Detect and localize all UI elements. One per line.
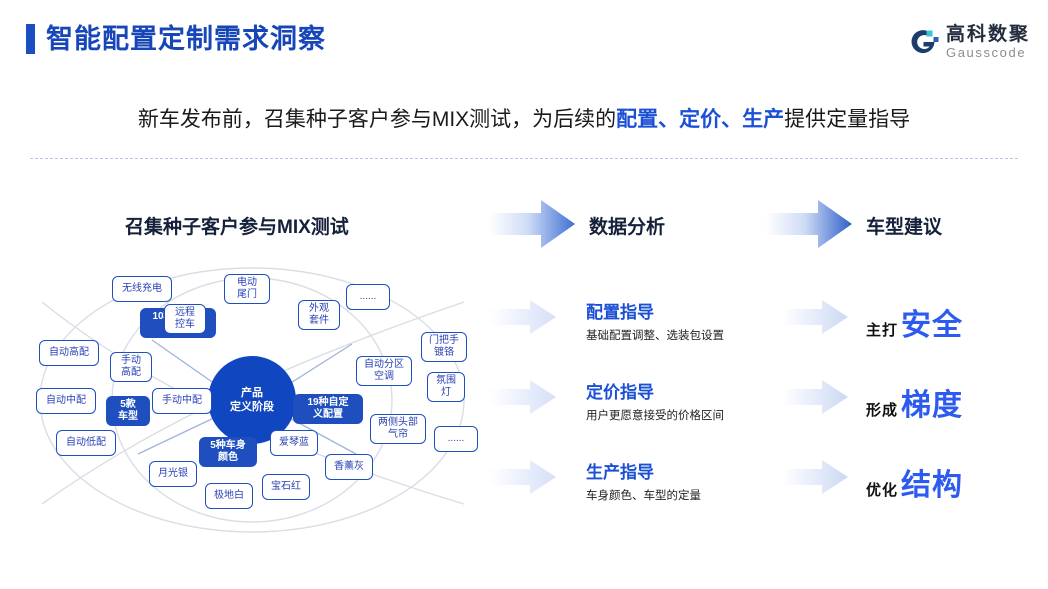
mindmap-leaf-node[interactable]: 手动中配 bbox=[152, 388, 212, 414]
guidance-desc: 基础配置调整、选装包设置 bbox=[586, 327, 724, 345]
outcome-item[interactable]: 优化 结构 bbox=[866, 460, 963, 504]
column-header-data-analysis: 数据分析 bbox=[589, 212, 665, 239]
mindmap-leaf-node[interactable]: 月光银 bbox=[149, 461, 197, 487]
column-header-model-advice: 车型建议 bbox=[866, 212, 942, 239]
section-divider bbox=[30, 158, 1018, 159]
mindmap-leaf-node[interactable]: 自动低配 bbox=[56, 430, 116, 456]
arrow-right-icon bbox=[766, 199, 852, 249]
logo-text-cn: 高科数聚 bbox=[946, 24, 1030, 45]
page-title: 智能配置定制需求洞察 bbox=[46, 21, 326, 57]
mindmap-leaf-node[interactable]: 手动 高配 bbox=[110, 352, 152, 382]
mindmap-leaf-node[interactable]: 门把手 镀铬 bbox=[421, 332, 467, 362]
gausscode-logo-icon bbox=[906, 25, 940, 59]
slide-root: 智能配置定制需求洞察 高科数聚 Gausscode 新车发布前，召集种子客户参与… bbox=[0, 0, 1048, 589]
mindmap-diagram: 产品 定义阶段 10种个性化 配置 19种自定 义配置 5款 车型 5种车身 颜… bbox=[12, 258, 492, 538]
outcome-item[interactable]: 形成 梯度 bbox=[866, 380, 963, 424]
mindmap-leaf-node[interactable]: ...... bbox=[434, 426, 478, 452]
subtitle-line: 新车发布前，召集种子客户参与MIX测试，为后续的配置、定价、生产提供定量指导 bbox=[0, 105, 1048, 135]
mindmap-leaf-node[interactable]: 自动分区 空调 bbox=[356, 356, 412, 386]
arrow-right-icon bbox=[782, 300, 848, 334]
arrow-right-icon bbox=[782, 380, 848, 414]
slide-header: 智能配置定制需求洞察 高科数聚 Gausscode bbox=[0, 0, 1048, 78]
mindmap-leaf-node[interactable]: 电动 尾门 bbox=[224, 274, 270, 304]
mindmap-leaf-node[interactable]: 极地白 bbox=[205, 483, 253, 509]
arrow-right-icon bbox=[782, 460, 848, 494]
outcome-prefix: 优化 bbox=[866, 479, 898, 500]
mindmap-branch-node[interactable]: 5种车身 颜色 bbox=[199, 437, 257, 467]
title-accent-bar bbox=[26, 24, 35, 54]
mindmap-leaf-node[interactable]: 自动高配 bbox=[39, 340, 99, 366]
logo-text: 高科数聚 Gausscode bbox=[946, 24, 1030, 60]
logo-text-en: Gausscode bbox=[946, 45, 1030, 60]
mindmap-leaf-node[interactable]: 远程 控车 bbox=[164, 304, 206, 334]
outcome-keyword: 结构 bbox=[901, 460, 963, 504]
arrow-right-icon bbox=[490, 380, 556, 414]
mindmap-branch-node[interactable]: 5款 车型 bbox=[106, 396, 150, 426]
outcome-keyword: 安全 bbox=[901, 300, 963, 344]
subtitle-part2: 提供定量指导 bbox=[784, 108, 910, 131]
subtitle-highlight: 配置、定价、生产 bbox=[616, 108, 784, 131]
mindmap-leaf-node[interactable]: 无线充电 bbox=[112, 276, 172, 302]
outcome-item[interactable]: 主打 安全 bbox=[866, 300, 963, 344]
arrow-right-icon bbox=[489, 199, 575, 249]
guidance-desc: 用户更愿意接受的价格区间 bbox=[586, 407, 724, 425]
mindmap-leaf-node[interactable]: 爱琴蓝 bbox=[270, 430, 318, 456]
guidance-item[interactable]: 配置指导 基础配置调整、选装包设置 bbox=[586, 302, 724, 345]
arrow-right-icon bbox=[490, 300, 556, 334]
mindmap-leaf-node[interactable]: 宝石红 bbox=[262, 474, 310, 500]
arrow-right-icon bbox=[490, 460, 556, 494]
guidance-item[interactable]: 定价指导 用户更愿意接受的价格区间 bbox=[586, 382, 724, 425]
outcome-keyword: 梯度 bbox=[901, 380, 963, 424]
subtitle-part1: 新车发布前，召集种子客户参与MIX测试，为后续的 bbox=[138, 108, 616, 131]
mindmap-branch-node[interactable]: 19种自定 义配置 bbox=[293, 394, 363, 424]
mindmap-leaf-node[interactable]: ...... bbox=[346, 284, 390, 310]
brand-logo: 高科数聚 Gausscode bbox=[906, 20, 1030, 64]
guidance-desc: 车身颜色、车型的定量 bbox=[586, 487, 701, 505]
mindmap-leaf-node[interactable]: 自动中配 bbox=[36, 388, 96, 414]
outcome-prefix: 形成 bbox=[866, 399, 898, 420]
guidance-title: 生产指导 bbox=[586, 462, 701, 484]
column-header-mix-test: 召集种子客户参与MIX测试 bbox=[125, 212, 349, 239]
mindmap-leaf-node[interactable]: 氛围 灯 bbox=[427, 372, 465, 402]
mindmap-leaf-node[interactable]: 香薰灰 bbox=[325, 454, 373, 480]
mindmap-leaf-node[interactable]: 外观 套件 bbox=[298, 300, 340, 330]
outcome-prefix: 主打 bbox=[866, 319, 898, 340]
mindmap-leaf-node[interactable]: 两侧头部 气帘 bbox=[370, 414, 426, 444]
guidance-title: 配置指导 bbox=[586, 302, 724, 324]
guidance-item[interactable]: 生产指导 车身颜色、车型的定量 bbox=[586, 462, 701, 505]
guidance-title: 定价指导 bbox=[586, 382, 724, 404]
